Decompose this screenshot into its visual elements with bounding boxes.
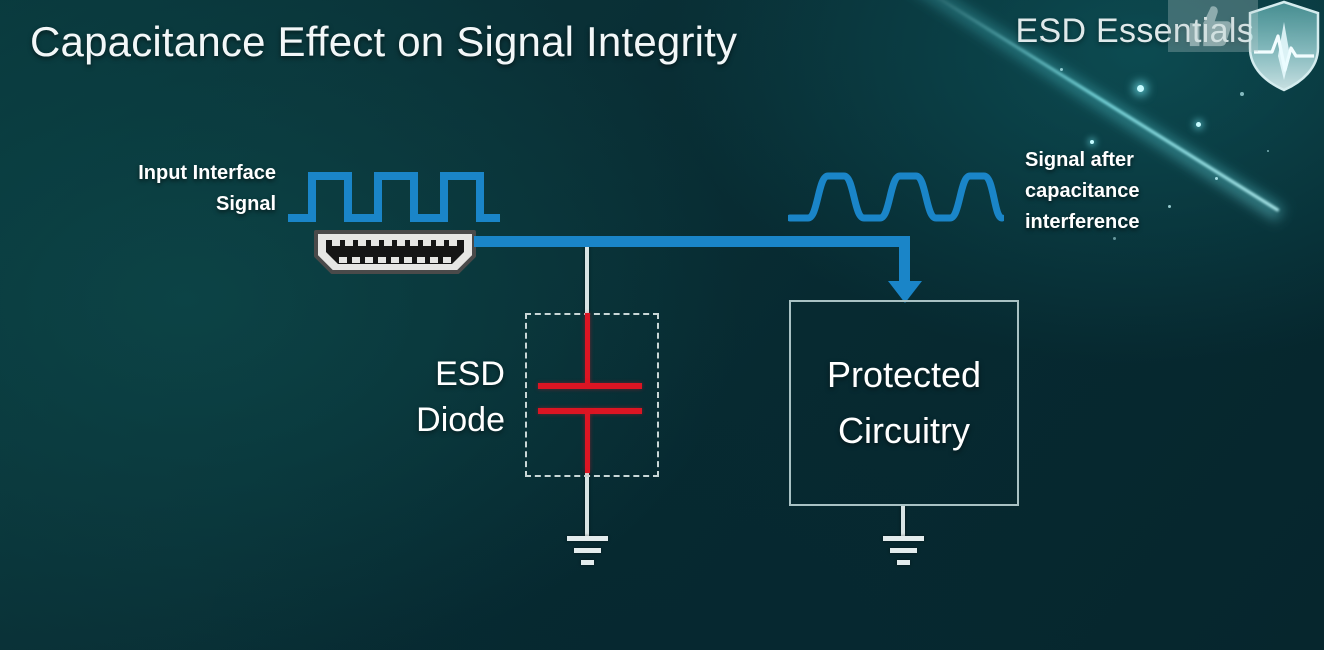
sparkle-dot: [1267, 150, 1269, 152]
output-signal-label-line2: capacitance: [1025, 176, 1235, 207]
wire-to-capacitor-top: [585, 241, 589, 315]
protected-circuitry-label-line1: Protected: [827, 347, 981, 403]
esd-diode-label: ESD Diode: [395, 352, 505, 444]
signal-wire-horizontal: [474, 236, 910, 247]
input-square-waveform: [286, 168, 502, 226]
capacitor-plate-top: [538, 383, 642, 389]
protected-circuitry-label-line2: Circuitry: [827, 403, 981, 459]
protected-circuitry-label: Protected Circuitry: [827, 347, 981, 459]
esd-diode-label-line1: ESD: [395, 352, 505, 398]
capacitor-lead-bottom: [585, 410, 590, 473]
input-signal-label-line1: Input Interface: [86, 158, 276, 189]
wire-to-capacitor-ground: [585, 470, 589, 538]
hdmi-connector-icon: [310, 228, 480, 276]
sparkle-dot: [1060, 68, 1063, 71]
esd-diode-label-line2: Diode: [395, 398, 505, 444]
slide-title: Capacitance Effect on Signal Integrity: [30, 18, 737, 66]
ground-bar: [574, 548, 601, 553]
capacitor-lead-top: [585, 313, 590, 387]
input-signal-label-line2: Signal: [86, 189, 276, 220]
ground-bar: [567, 536, 608, 541]
output-signal-label-line1: Signal after: [1025, 145, 1235, 176]
output-rounded-waveform: [788, 168, 1004, 226]
slide-canvas: Capacitance Effect on Signal Integrity E…: [0, 0, 1324, 650]
thumbs-up-icon: [1186, 4, 1232, 48]
output-signal-label-line3: interference: [1025, 207, 1235, 238]
ground-bar: [890, 548, 917, 553]
protected-circuitry-box: Protected Circuitry: [789, 300, 1019, 506]
ground-bar: [897, 560, 910, 565]
esd-diode-dashed-box: [525, 313, 659, 477]
sparkle-dot: [1090, 140, 1094, 144]
output-signal-label: Signal after capacitance interference: [1025, 145, 1235, 238]
capacitor-plate-bottom: [538, 408, 642, 414]
input-signal-label: Input Interface Signal: [86, 158, 276, 220]
sparkle-dot: [1196, 122, 1201, 127]
ground-bar: [883, 536, 924, 541]
wire-box-to-ground: [901, 506, 905, 538]
ground-bar: [581, 560, 594, 565]
sparkle-dot: [1137, 85, 1144, 92]
